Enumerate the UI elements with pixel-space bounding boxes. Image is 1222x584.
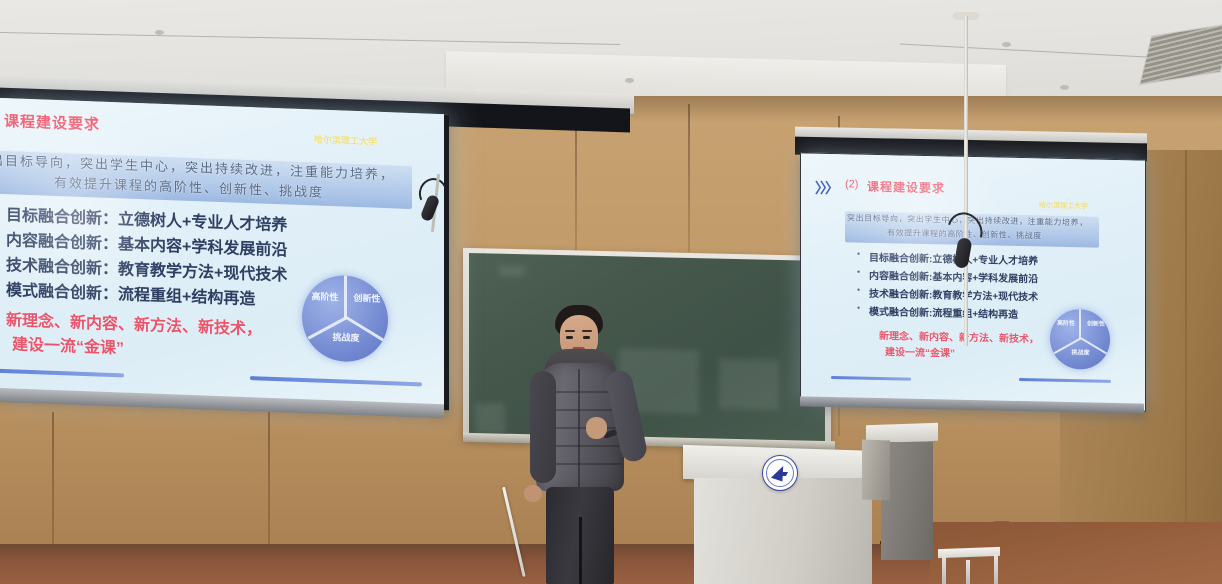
right-bullet-3-value: 教育教学方法+现代技术 xyxy=(932,290,1038,303)
right-slide-number: (2) xyxy=(845,178,858,190)
left-bullet-4-label: 模式融合创新： xyxy=(6,282,118,303)
right-venn-diagram: 高阶性 创新性 挑战度 xyxy=(1050,309,1110,370)
white-stool-leg xyxy=(942,554,946,584)
right-bullet-1-label: 目标融合创新: xyxy=(869,253,932,265)
left-red-line-2: 建设一流“金课” xyxy=(12,330,124,358)
chalk-smudge xyxy=(719,359,779,410)
right-bullet-4-label: 模式融合创新: xyxy=(869,307,932,319)
venn-segment-3: 挑战度 xyxy=(329,333,363,344)
white-stool-leg xyxy=(994,554,998,584)
left-bullet-1-label: 目标融合创新： xyxy=(6,207,118,228)
ceiling-fixture xyxy=(1060,85,1069,90)
white-stool-leg xyxy=(966,560,970,584)
presenter xyxy=(520,305,640,584)
venn-segment-2: 创新性 xyxy=(352,294,382,305)
right-slide-watermark: 哈尔滨理工大学 xyxy=(1039,200,1088,211)
ceiling-fixture xyxy=(1002,42,1011,47)
presenter-left-arm xyxy=(530,371,556,483)
right-projection-screen[interactable]: 〉〉〉 (2) 课程建设要求 哈尔滨理工大学 突出目标导向，突出学生中心，突出持… xyxy=(800,152,1146,411)
left-bullet-3-label: 技术融合创新： xyxy=(6,257,118,278)
right-red-line-2: 建设一流“金课” xyxy=(885,343,955,359)
wall-panel-seam xyxy=(688,104,690,252)
right-bullet-1-value: 立德树人+专业人才培养 xyxy=(932,254,1038,267)
chalk-smudge xyxy=(475,403,505,434)
lectern-body[interactable] xyxy=(694,478,872,584)
right-bullet-2-value: 基本内容+学科发展前沿 xyxy=(932,272,1038,285)
ceiling-fixture xyxy=(625,78,634,83)
right-bullet-4-value: 流程重组+结构再造 xyxy=(932,308,1018,321)
ceiling-fixture xyxy=(155,30,164,35)
venn-segment-2: 创新性 xyxy=(1085,321,1107,328)
chalk-smudge xyxy=(499,266,525,277)
presenter-right-hand xyxy=(586,417,607,439)
left-slide-title: 课程建设要求 xyxy=(4,110,100,135)
left-bullet-4-value: 流程重组+结构再造 xyxy=(118,286,255,308)
right-bullet-dot: • xyxy=(857,285,860,295)
right-slide-chevron-icon: 〉〉〉 xyxy=(815,178,837,198)
right-bullet-2-label: 内容融合创新: xyxy=(869,271,932,283)
lecture-hall-photo: 课程建设要求 哈尔滨理工大学 出目标导向，突出学生中心，突出持续改进，注重能力培… xyxy=(0,0,1222,584)
right-slide-title: 课程建设要求 xyxy=(867,178,945,197)
right-bullet-dot: • xyxy=(857,303,860,313)
venn-segment-3: 挑战度 xyxy=(1068,350,1093,357)
venn-segment-1: 高阶性 xyxy=(310,292,340,303)
right-bullet-4: 模式融合创新:流程重组+结构再造 xyxy=(869,303,1018,321)
presenter-left-hand xyxy=(524,485,542,502)
right-bullet-dot: • xyxy=(857,249,860,259)
left-slide-watermark: 哈尔滨理工大学 xyxy=(314,132,377,147)
left-bullet-2-label: 内容融合创新： xyxy=(6,232,118,253)
venn-spoke xyxy=(344,276,347,319)
ceiling-mic-pole xyxy=(964,16,968,346)
lectern-side-box xyxy=(862,440,890,501)
wall-panel-seam xyxy=(1185,150,1187,550)
left-projection-screen[interactable]: 课程建设要求 哈尔滨理工大学 出目标导向，突出学生中心，突出持续改进，注重能力培… xyxy=(0,98,449,411)
university-emblem-icon xyxy=(762,455,798,491)
right-bullet-3-label: 技术融合创新: xyxy=(869,289,932,301)
venn-segment-1: 高阶性 xyxy=(1055,321,1077,328)
right-bullet-dot: • xyxy=(857,267,860,277)
venn-spoke xyxy=(1079,309,1081,339)
